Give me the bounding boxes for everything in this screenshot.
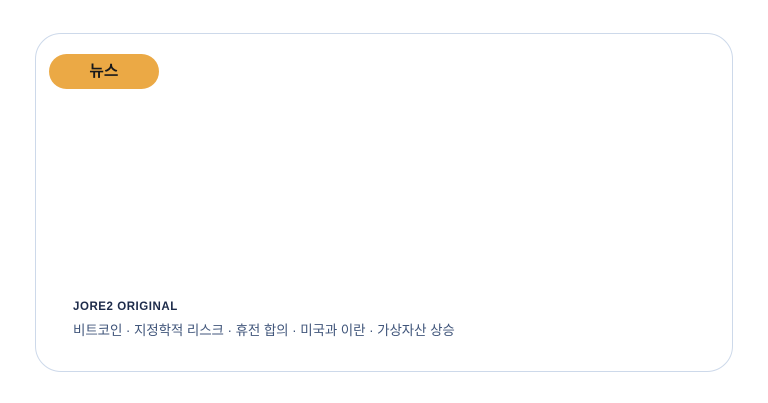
news-card-canvas: 뉴스 지정학적 리스크 후퇴, 비트코인을 7만 달러 위로 밀어올리다 JOR… bbox=[0, 0, 768, 403]
hero-card: 뉴스 지정학적 리스크 후퇴, 비트코인을 7만 달러 위로 밀어올리다 JOR… bbox=[35, 33, 733, 372]
source-strip: JORE2 ORIGINAL 비트코인 · 지정학적 리스크 · 휴전 합의 ·… bbox=[53, 290, 719, 354]
headline-line-1: 지정학적 리스크 후퇴, 비트코인을 bbox=[56, 167, 696, 220]
source-label: JORE2 ORIGINAL bbox=[73, 301, 699, 315]
category-badge[interactable]: 뉴스 bbox=[49, 54, 159, 89]
category-badge-label: 뉴스 bbox=[90, 64, 119, 80]
source-tags: 비트코인 · 지정학적 리스크 · 휴전 합의 · 미국과 이란 · 가상자산 … bbox=[73, 322, 699, 340]
